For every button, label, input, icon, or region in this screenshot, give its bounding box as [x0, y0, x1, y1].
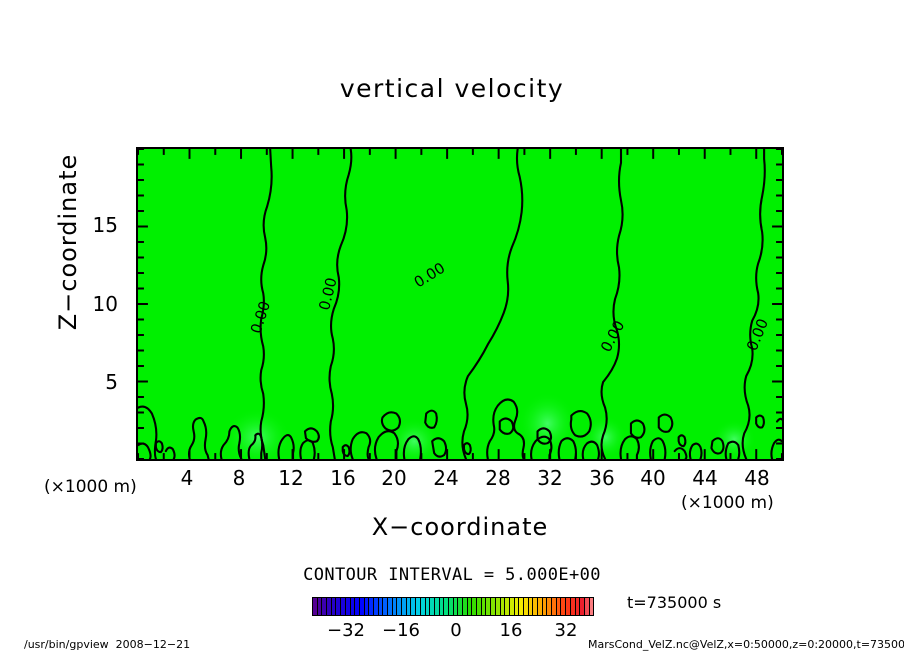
time-label: t=735000 s: [627, 593, 721, 612]
contour-plot-area[interactable]: 0.00 0.00 0.00 0.00 0.00: [136, 147, 784, 461]
x-axis-label: X−coordinate: [136, 513, 784, 541]
plume-glow: [518, 392, 578, 455]
colorbar-tick-label-0: 0: [426, 620, 486, 641]
y-tick-label-5: 5: [78, 370, 118, 394]
x-tick-label-48: 48: [736, 466, 778, 490]
colorbar[interactable]: [312, 597, 594, 616]
footer-dataset: MarsCond_VelZ.nc@VelZ,x=0:50000,z=0:2000…: [588, 638, 904, 651]
x-tick-label-40: 40: [632, 466, 674, 490]
contour-lines: 0.00 0.00 0.00 0.00 0.00: [138, 149, 782, 459]
x-tick-label-32: 32: [529, 466, 571, 490]
y-axis-label: Z−coordinate: [54, 132, 82, 352]
y-tick-label-15: 15: [78, 213, 118, 237]
x-tick-label-24: 24: [425, 466, 467, 490]
x-tick-label-20: 20: [373, 466, 415, 490]
x-tick-label-16: 16: [322, 466, 364, 490]
x-tick-label-12: 12: [270, 466, 312, 490]
x-tick-label-8: 8: [218, 466, 260, 490]
field-fill: [138, 149, 782, 459]
colorbar-cell: [590, 598, 594, 615]
x-tick-label-36: 36: [581, 466, 623, 490]
x-unit-label-left: (×1000 m): [44, 477, 137, 497]
colorbar-tick-label-16: 16: [481, 620, 541, 641]
contour-interval-caption: CONTOUR INTERVAL = 5.000E+00: [0, 565, 904, 585]
x-tick-label-4: 4: [166, 466, 208, 490]
x-tick-label-44: 44: [684, 466, 726, 490]
figure-canvas: vertical velocity Z−coordinate 5 10 15: [0, 0, 904, 654]
x-tick-label-28: 28: [477, 466, 519, 490]
page-title: vertical velocity: [0, 74, 904, 103]
y-tick-label-10: 10: [78, 292, 118, 316]
footer-command: /usr/bin/gpview 2008−12−21: [24, 638, 190, 651]
colorbar-tick-label-n16: −16: [371, 620, 431, 641]
x-unit-label-right: (×1000 m): [681, 493, 774, 513]
colorbar-tick-label-n32: −32: [316, 620, 376, 641]
colorbar-tick-label-32: 32: [536, 620, 596, 641]
